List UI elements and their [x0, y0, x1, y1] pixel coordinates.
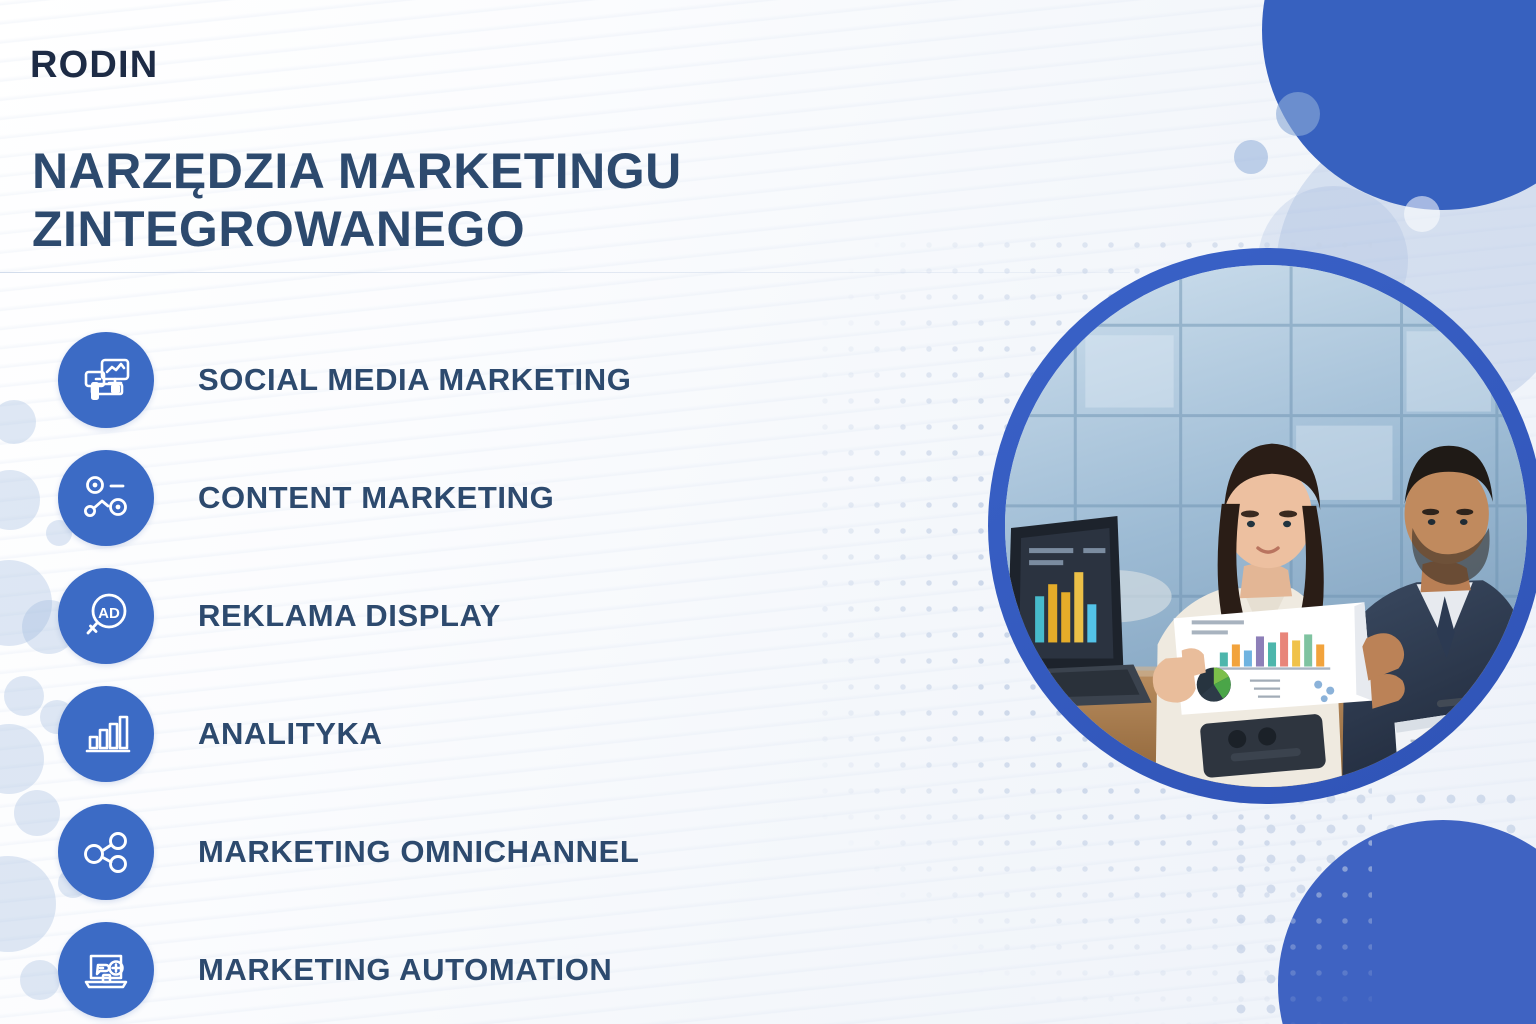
photo-ring-border	[988, 248, 1536, 804]
screens-chart-icon	[58, 332, 154, 428]
team-photo	[1005, 265, 1527, 787]
brand-logo: RODIN	[30, 44, 158, 87]
share-nodes-icon	[58, 804, 154, 900]
list-item-label: MARKETING OMNICHANNEL	[198, 834, 639, 870]
list-item[interactable]: SOCIAL MEDIA MARKETING	[58, 330, 818, 430]
list-item[interactable]: CONTENT MARKETING	[58, 448, 818, 548]
page-title: NARZĘDZIA MARKETINGU ZINTEGROWANEGO	[32, 143, 862, 258]
decorative-bubble	[0, 856, 56, 952]
node-network-icon	[58, 450, 154, 546]
decorative-bubble	[4, 676, 44, 716]
decorative-bubble	[14, 790, 60, 836]
decorative-circle-small-2	[1234, 140, 1268, 174]
list-item[interactable]: ANALITYKA	[58, 684, 818, 784]
service-list: SOCIAL MEDIA MARKETING CONTENT MARKETING	[58, 330, 818, 1020]
decorative-circle-small-1	[1276, 92, 1320, 136]
list-item-label: ANALITYKA	[198, 716, 383, 752]
list-item-label: CONTENT MARKETING	[198, 480, 554, 516]
decorative-bubble	[0, 724, 44, 794]
bar-chart-icon	[58, 686, 154, 782]
list-item[interactable]: MARKETING AUTOMATION	[58, 920, 818, 1020]
laptop-chat-plus-icon	[58, 922, 154, 1018]
list-item[interactable]: AD REKLAMA DISPLAY	[58, 566, 818, 666]
decorative-bubble	[0, 400, 36, 444]
header-divider	[0, 272, 1130, 273]
ad-label: AD	[98, 605, 120, 622]
ad-magnifier-icon: AD	[58, 568, 154, 664]
list-item-label: REKLAMA DISPLAY	[198, 598, 501, 634]
infographic-slide: RODIN NARZĘDZIA MARKETINGU ZINTEGROWANEG…	[0, 0, 1536, 1024]
decorative-bubble	[20, 960, 60, 1000]
list-item[interactable]: MARKETING OMNICHANNEL	[58, 802, 818, 902]
decorative-circle-small-3	[1404, 196, 1440, 232]
list-item-label: MARKETING AUTOMATION	[198, 952, 612, 988]
decorative-bubble	[0, 470, 40, 530]
list-item-label: SOCIAL MEDIA MARKETING	[198, 362, 631, 398]
